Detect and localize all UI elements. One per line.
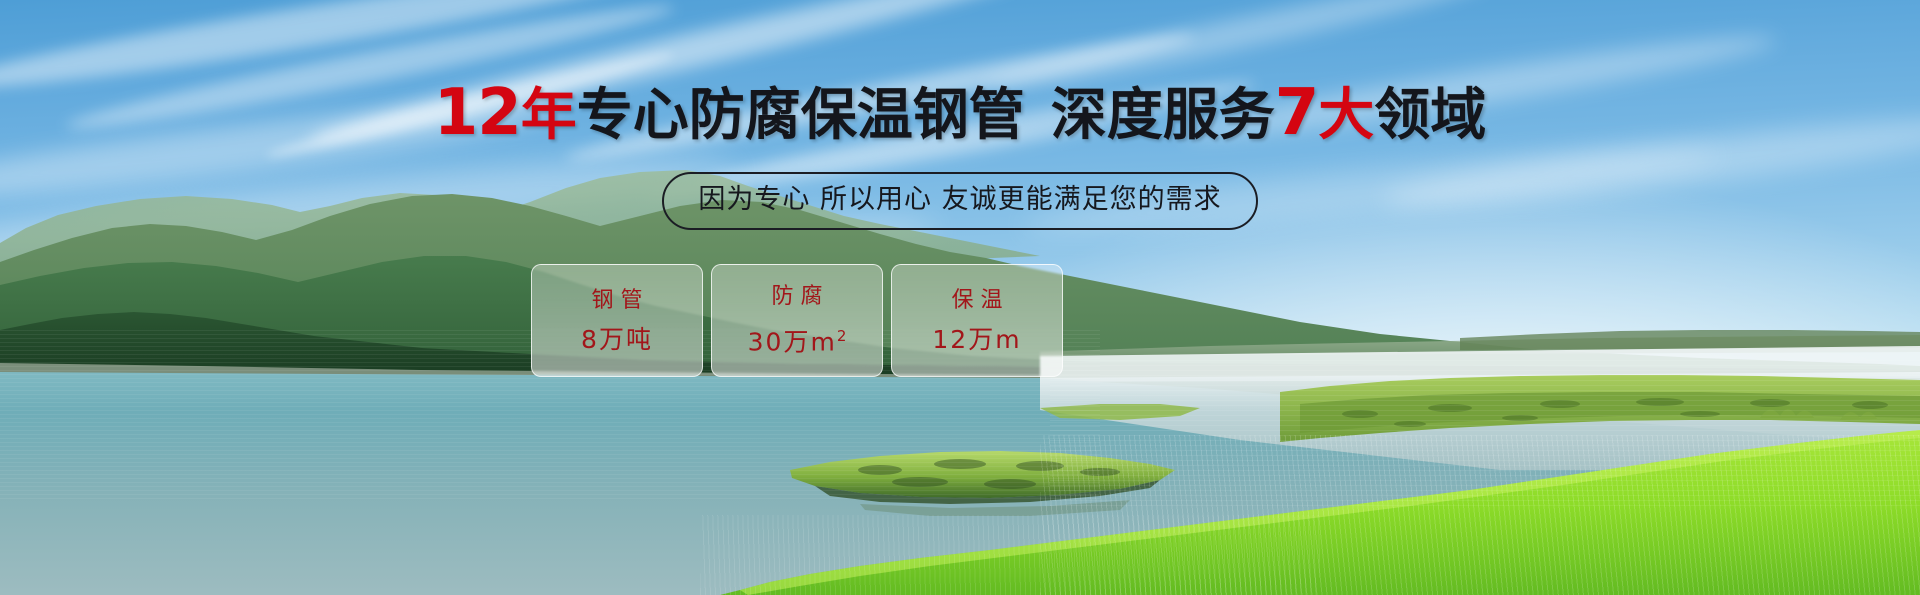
stat-card-list: 钢管 8万吨 防腐 30万m2 保温 12万m	[531, 264, 1063, 377]
stat-card-insulation[interactable]: 保温 12万m	[891, 264, 1063, 377]
banner-content: 12年专心防腐保温钢管深度服务7大领域 因为专心 所以用心 友诚更能满足您的需求…	[0, 0, 1920, 595]
stat-card-steel-pipe[interactable]: 钢管 8万吨	[531, 264, 703, 377]
stat-card-title: 防腐	[764, 284, 829, 310]
years-number: 12	[434, 76, 521, 150]
stat-card-title: 保温	[944, 288, 1009, 314]
seven-number: 7	[1275, 76, 1319, 150]
stat-value-text: 30万m	[748, 328, 837, 357]
years-unit: 年	[521, 83, 577, 148]
subtitle-container: 因为专心 所以用心 友诚更能满足您的需求	[0, 172, 1920, 230]
headline-main-text: 专心防腐保温钢管	[577, 83, 1025, 148]
stat-card-value: 12万m	[932, 326, 1021, 354]
seven-unit: 大	[1318, 83, 1374, 148]
promo-banner: 12年专心防腐保温钢管深度服务7大领域 因为专心 所以用心 友诚更能满足您的需求…	[0, 0, 1920, 595]
stat-value-text: 12万m	[932, 325, 1021, 354]
stat-card-value: 30万m2	[748, 322, 847, 356]
stat-card-title: 钢管	[584, 288, 649, 314]
stat-card-value: 8万吨	[581, 326, 653, 354]
stat-value-text: 8万吨	[581, 325, 653, 354]
stat-value-superscript: 2	[837, 327, 847, 345]
subtitle-pill: 因为专心 所以用心 友诚更能满足您的需求	[662, 172, 1257, 230]
headline-service-text: 深度服务	[1051, 83, 1275, 148]
headline-field-text: 领域	[1374, 83, 1486, 148]
headline: 12年专心防腐保温钢管深度服务7大领域	[0, 82, 1920, 147]
stat-card-anticorrosion[interactable]: 防腐 30万m2	[711, 264, 883, 377]
